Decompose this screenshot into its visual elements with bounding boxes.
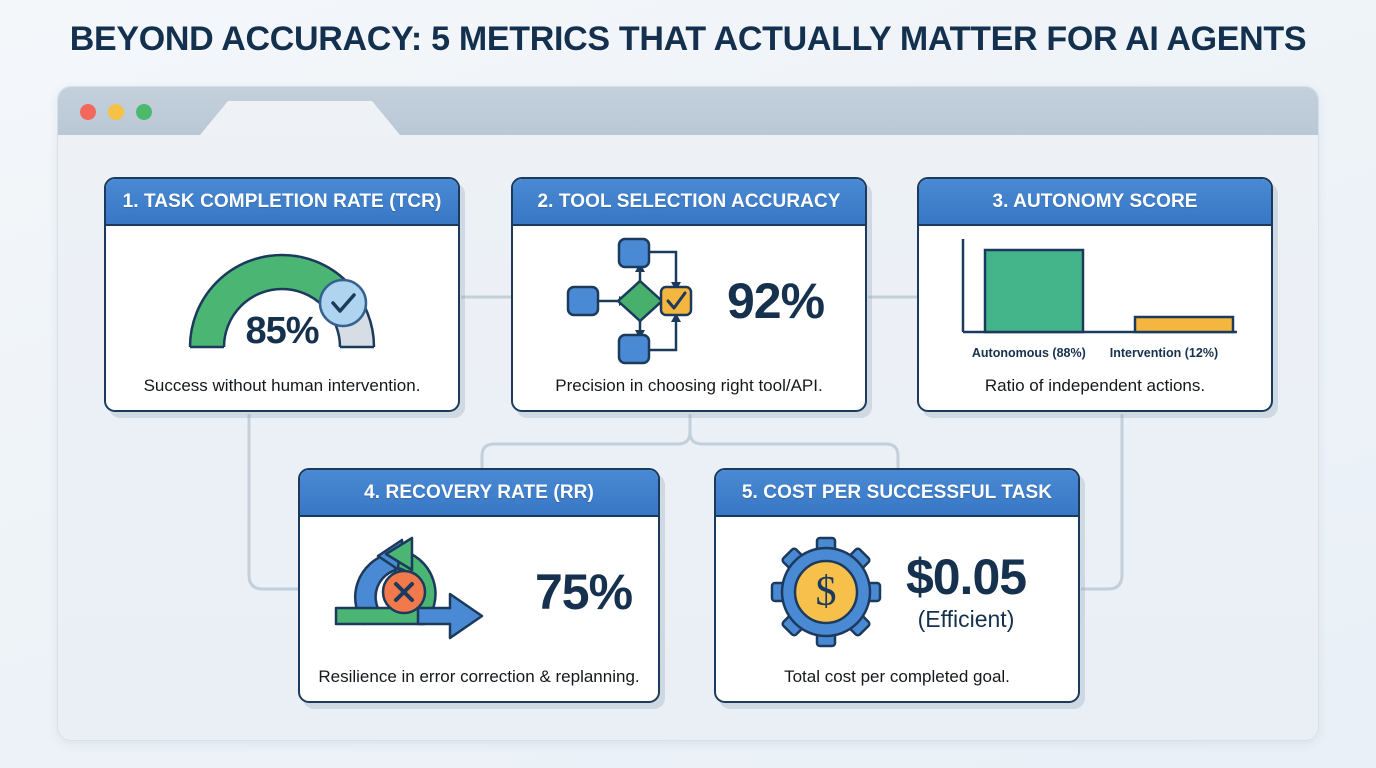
flow-node-top <box>619 239 649 267</box>
gear-coin-icon: $ <box>768 534 884 650</box>
metric-card-recovery-rate[interactable]: 4. RECOVERY RATE (RR) 75% <box>298 468 660 703</box>
browser-tab[interactable] <box>200 101 400 135</box>
metric-card-task-completion-rate[interactable]: 1. TASK COMPLETION RATE (TCR) 85% Succes… <box>104 177 460 412</box>
value-tool-selection-accuracy: 92% <box>727 276 824 326</box>
window-title-bar <box>58 87 1318 135</box>
bar-intervention <box>1135 317 1233 332</box>
recovery-loop-icon <box>326 532 511 652</box>
card-body-2: 92% <box>513 226 865 376</box>
card-header-1: 1. TASK COMPLETION RATE (TCR) <box>106 179 458 226</box>
gauge-value-label: 85% <box>187 310 377 353</box>
flow-node-checkbox <box>661 287 691 315</box>
flowchart-diagram <box>554 237 709 365</box>
bar-label-autonomous: Autonomous (88%) <box>972 346 1086 360</box>
bar-chart-svg <box>945 236 1245 341</box>
bar-chart-labels: Autonomous (88%) Intervention (12%) <box>945 346 1245 360</box>
close-window-button[interactable] <box>80 104 96 120</box>
dollar-sign-icon: $ <box>815 569 836 615</box>
flow-arrow-bottom-to-check <box>649 319 676 350</box>
card-caption-5: Total cost per completed goal. <box>716 667 1078 701</box>
card-header-4: 4. RECOVERY RATE (RR) <box>300 470 658 517</box>
card-body-5: $ $0.05 (Efficient) <box>716 517 1078 667</box>
bar-chart: Autonomous (88%) Intervention (12%) <box>945 236 1245 366</box>
value-recovery-rate: 75% <box>535 567 632 617</box>
card-header-2: 2. TOOL SELECTION ACCURACY <box>513 179 865 226</box>
card-body-1: 85% <box>106 226 458 376</box>
card-caption-4: Resilience in error correction & replann… <box>300 667 658 701</box>
bar-autonomous <box>985 250 1083 332</box>
card-caption-3: Ratio of independent actions. <box>919 376 1271 410</box>
maximize-window-button[interactable] <box>136 104 152 120</box>
page-title: BEYOND ACCURACY: 5 METRICS THAT ACTUALLY… <box>0 20 1376 59</box>
cost-value-group: $0.05 (Efficient) <box>906 552 1026 633</box>
flow-node-input <box>568 287 598 315</box>
card-header-5: 5. COST PER SUCCESSFUL TASK <box>716 470 1078 517</box>
metric-card-autonomy-score[interactable]: 3. AUTONOMY SCORE Autonomous (88%) Inter… <box>917 177 1273 412</box>
card-header-3: 3. AUTONOMY SCORE <box>919 179 1271 226</box>
flow-arrow-top-to-check <box>649 252 676 285</box>
flow-node-decision-diamond <box>618 281 662 321</box>
gauge-chart: 85% <box>187 247 377 355</box>
card-body-3: Autonomous (88%) Intervention (12%) <box>919 226 1271 376</box>
metric-card-tool-selection-accuracy[interactable]: 2. TOOL SELECTION ACCURACY <box>511 177 867 412</box>
minimize-window-button[interactable] <box>108 104 124 120</box>
bar-label-intervention: Intervention (12%) <box>1110 346 1218 360</box>
value-cost-note: (Efficient) <box>906 606 1026 633</box>
flow-node-bottom <box>619 335 649 363</box>
card-caption-2: Precision in choosing right tool/API. <box>513 376 865 410</box>
card-caption-1: Success without human intervention. <box>106 376 458 410</box>
card-body-4: 75% <box>300 517 658 667</box>
value-cost-per-task: $0.05 <box>906 552 1026 602</box>
metric-card-cost-per-successful-task[interactable]: 5. COST PER SUCCESSFUL TASK <box>714 468 1080 703</box>
